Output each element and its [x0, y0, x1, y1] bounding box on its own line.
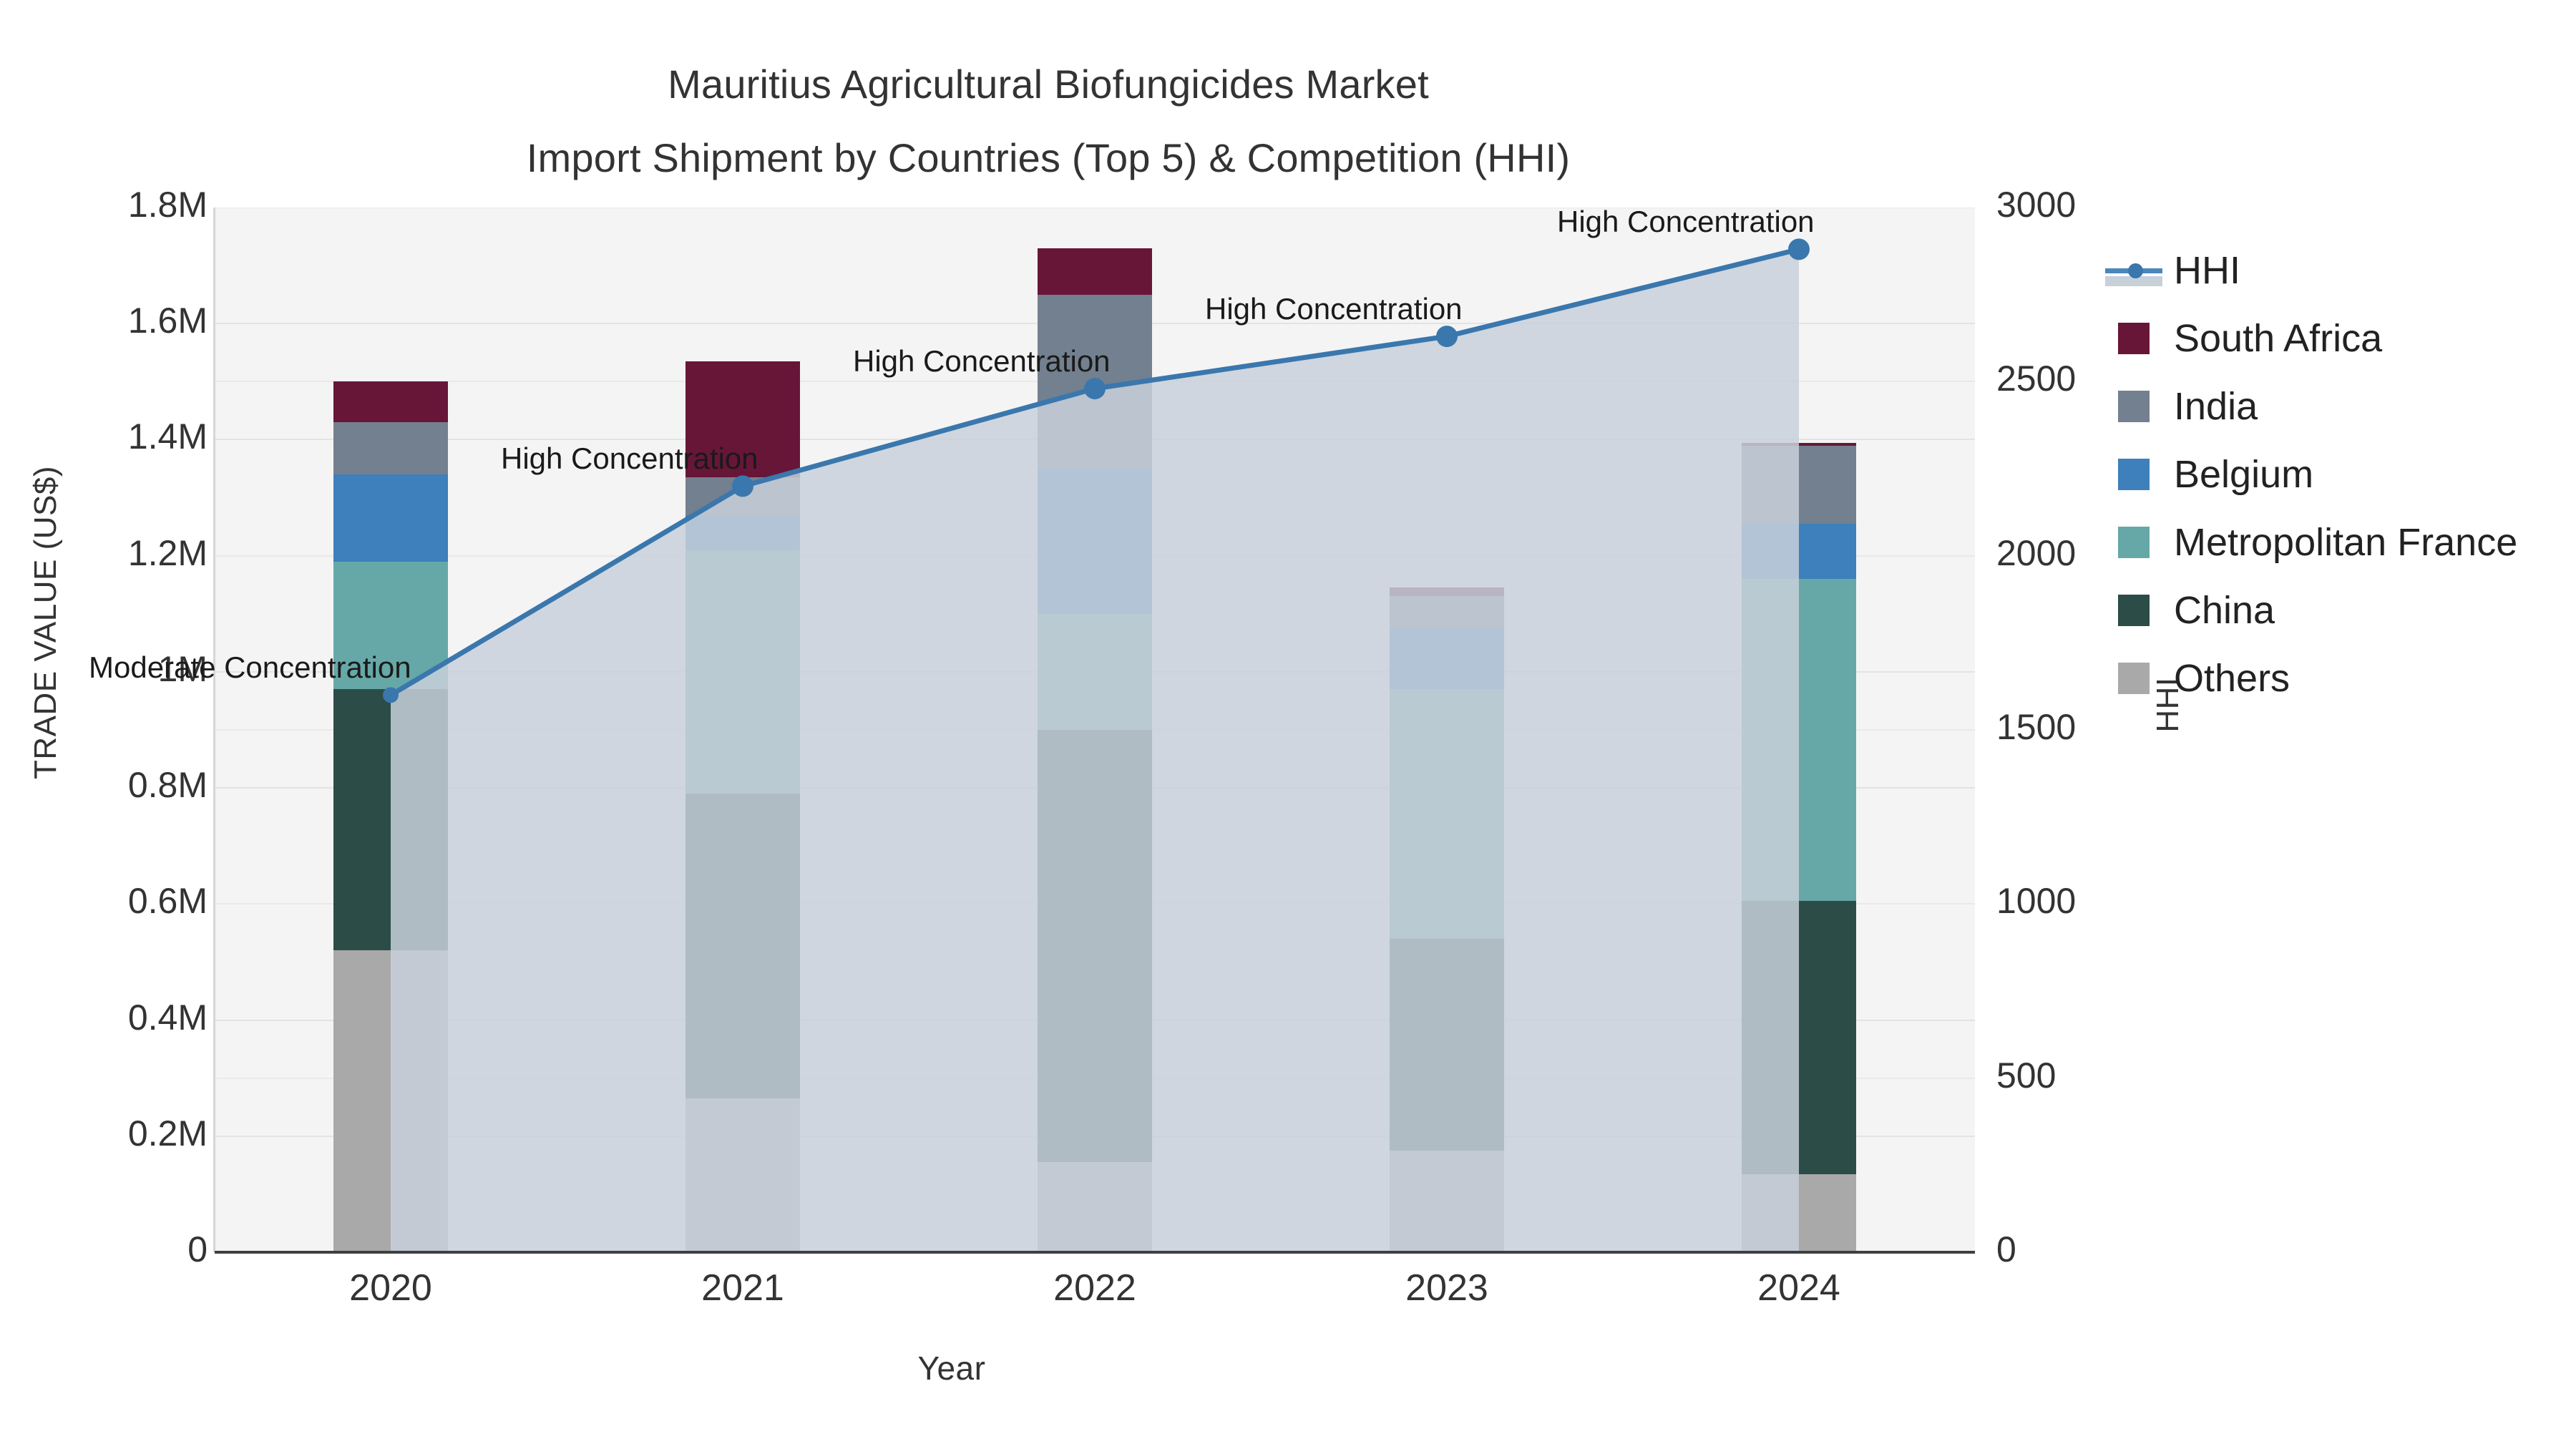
bar-segment[interactable]: [686, 515, 800, 550]
y-axis-left-tick-label: 1.2M: [128, 532, 208, 574]
y-axis-right-tick-label: 1000: [1996, 880, 2076, 922]
hhi-line-icon: [2118, 255, 2150, 286]
hhi-annotation: Moderate Concentration: [89, 650, 411, 685]
bar-segment[interactable]: [1742, 1174, 1856, 1253]
y-axis-right-tick-label: 3000: [1996, 184, 2076, 225]
y-axis-right-tick-label: 2000: [1996, 532, 2076, 574]
bar-segment[interactable]: [1038, 248, 1152, 295]
bar-segment[interactable]: [1390, 628, 1504, 689]
legend-item[interactable]: HHI: [2118, 236, 2562, 304]
hhi-annotation: High Concentration: [1205, 292, 1463, 326]
bar-segment[interactable]: [1742, 579, 1856, 901]
bar-segment[interactable]: [1742, 901, 1856, 1174]
bar-segment[interactable]: [333, 474, 448, 562]
legend-item[interactable]: Others: [2118, 644, 2562, 712]
chart-subtitle: Import Shipment by Countries (Top 5) & C…: [0, 135, 2097, 181]
legend-item-label: China: [2174, 588, 2275, 633]
y-axis-left-tick-label: 0.6M: [128, 880, 208, 922]
hhi-annotation: High Concentration: [501, 441, 758, 476]
bar-segment[interactable]: [1742, 443, 1856, 446]
y-axis-left-tick-label: 0.8M: [128, 764, 208, 806]
legend-item-label: Others: [2174, 656, 2290, 701]
bar-segment[interactable]: [1390, 596, 1504, 628]
bar-segment[interactable]: [686, 1098, 800, 1252]
legend-item[interactable]: China: [2118, 576, 2562, 644]
legend-swatch-icon: [2118, 391, 2150, 422]
legend-item[interactable]: South Africa: [2118, 304, 2562, 372]
bar-segment[interactable]: [1038, 469, 1152, 614]
x-axis-tick-label: 2020: [248, 1267, 534, 1309]
hhi-annotation: High Concentration: [853, 344, 1111, 379]
hhi-annotation: High Concentration: [1557, 205, 1815, 239]
y-axis-right-tick-label: 1500: [1996, 706, 2076, 748]
bar-group[interactable]: [686, 361, 800, 1252]
bar-segment[interactable]: [686, 550, 800, 794]
legend-item[interactable]: Belgium: [2118, 440, 2562, 508]
y-axis-left-tick-label: 1.6M: [128, 300, 208, 341]
y-axis-right-tick-label: 2500: [1996, 358, 2076, 399]
bar-segment[interactable]: [1038, 1162, 1152, 1252]
y-axis-right-tick-label: 0: [1996, 1229, 2016, 1270]
y-axis-left-tick-label: 0: [187, 1229, 208, 1270]
bar-segment[interactable]: [333, 381, 448, 422]
legend-swatch-icon: [2118, 663, 2150, 694]
chart-title: Mauritius Agricultural Biofungicides Mar…: [0, 61, 2097, 107]
bar-group[interactable]: [1390, 587, 1504, 1252]
x-axis-tick-label: 2023: [1304, 1267, 1590, 1309]
bar-group[interactable]: [1742, 443, 1856, 1253]
bar-segment[interactable]: [1390, 587, 1504, 596]
legend-item-label: HHI: [2174, 248, 2240, 293]
y-axis-left-tick-label: 1.4M: [128, 416, 208, 457]
bar-segment[interactable]: [1390, 689, 1504, 939]
y-axis-left-title: TRADE VALUE (US$): [28, 436, 64, 809]
hhi-data-point[interactable]: [1788, 238, 1810, 260]
bar-segment[interactable]: [333, 950, 448, 1252]
legend-swatch-icon: [2118, 595, 2150, 626]
bar-group[interactable]: [1038, 248, 1152, 1252]
bar-group[interactable]: [333, 381, 448, 1252]
bar-segment[interactable]: [1038, 614, 1152, 730]
x-axis-tick-label: 2022: [952, 1267, 1238, 1309]
x-axis-title: Year: [773, 1349, 1131, 1387]
bar-segment[interactable]: [1390, 939, 1504, 1151]
chart-canvas: Mauritius Agricultural Biofungicides Mar…: [0, 0, 2576, 1449]
bar-segment[interactable]: [1742, 446, 1856, 525]
bar-segment[interactable]: [1742, 524, 1856, 579]
bar-segment[interactable]: [686, 477, 800, 515]
bar-segment[interactable]: [333, 689, 448, 950]
y-axis-left-tick-label: 0.4M: [128, 997, 208, 1038]
legend-item-label: India: [2174, 384, 2258, 429]
x-axis-tick-label: 2024: [1656, 1267, 1942, 1309]
bar-segment[interactable]: [1038, 295, 1152, 469]
legend: HHISouth AfricaIndiaBelgiumMetropolitan …: [2118, 236, 2562, 712]
y-axis-left-tick-label: 1.8M: [128, 184, 208, 225]
bar-segment[interactable]: [1038, 730, 1152, 1162]
y-axis-right-tick-label: 500: [1996, 1055, 2056, 1096]
bar-segment[interactable]: [1390, 1151, 1504, 1252]
legend-item-label: South Africa: [2174, 316, 2382, 361]
y-axis-left-tick-label: 0.2M: [128, 1113, 208, 1154]
x-axis-line: [215, 1251, 1975, 1254]
legend-item[interactable]: India: [2118, 372, 2562, 440]
legend-swatch-icon: [2118, 323, 2150, 354]
legend-item-label: Metropolitan France: [2174, 520, 2517, 565]
legend-item-label: Belgium: [2174, 452, 2313, 497]
hhi-data-point[interactable]: [1436, 326, 1458, 347]
legend-item[interactable]: Metropolitan France: [2118, 508, 2562, 576]
y-axis-left-line: [213, 208, 215, 1252]
legend-swatch-icon: [2118, 459, 2150, 490]
legend-swatch-icon: [2118, 527, 2150, 558]
bar-segment[interactable]: [686, 794, 800, 1098]
x-axis-tick-label: 2021: [600, 1267, 886, 1309]
bar-segment[interactable]: [333, 422, 448, 474]
